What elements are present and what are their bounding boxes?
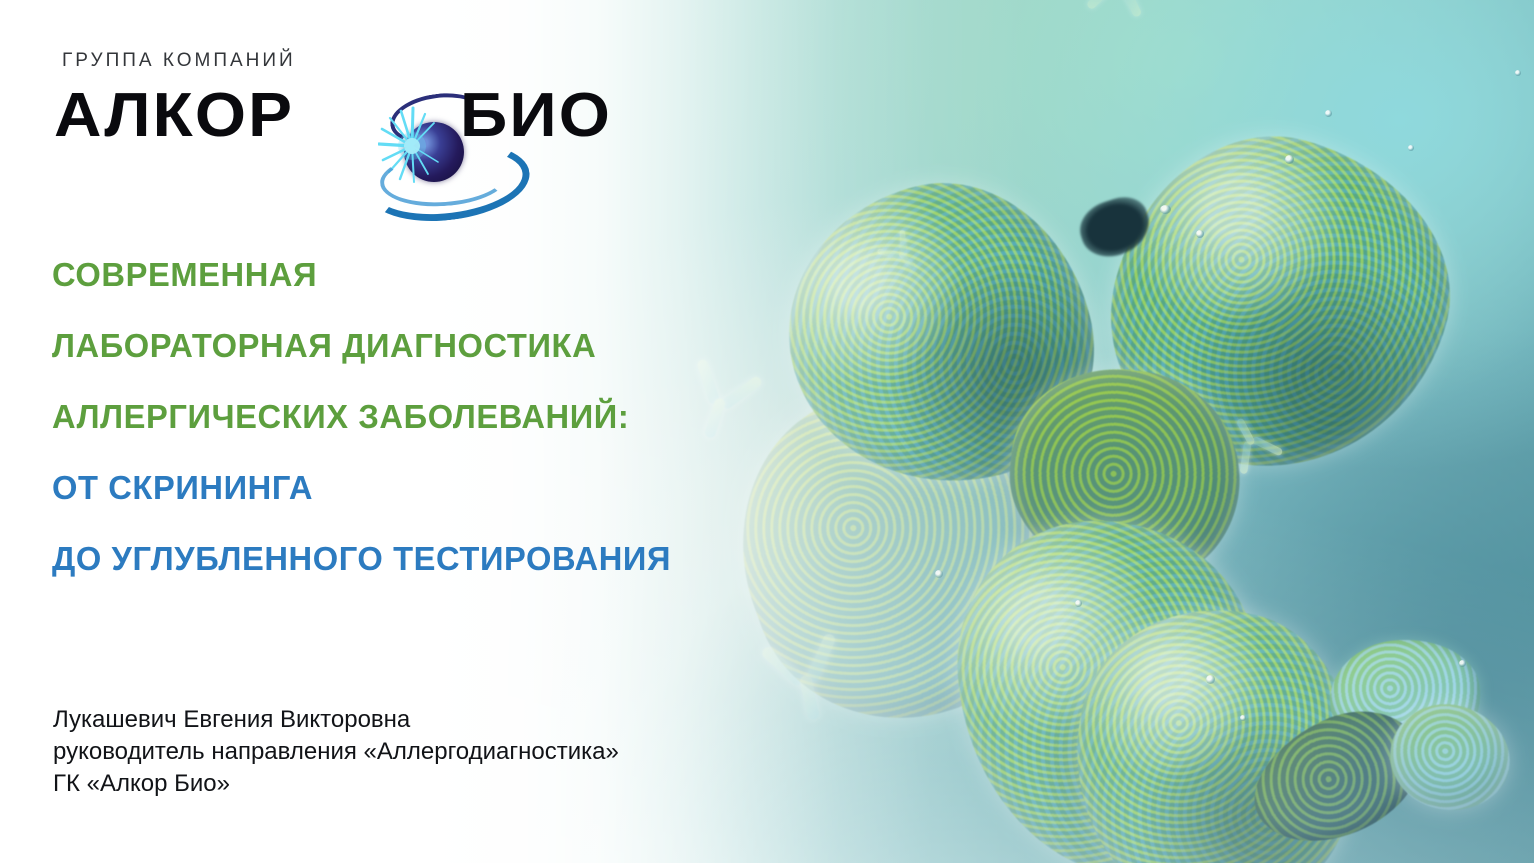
logo-wordmark-alkor: АЛКОР [54, 80, 294, 151]
author-block: Лукашевич Евгения Викторовна руководител… [53, 704, 619, 800]
antibody-dark-notch [1073, 191, 1157, 265]
antibody-fc-stem [948, 510, 1272, 863]
title-line-4: ОТ СКРИНИНГА [52, 471, 834, 504]
particle-dot [1196, 230, 1204, 238]
particle-dot [1515, 70, 1521, 76]
antibody-hinge-region [1000, 359, 1251, 592]
author-position: руководитель направления «Аллергодиагнос… [53, 736, 619, 768]
logo-tagline: ГРУППА КОМПАНИЙ [62, 50, 296, 72]
secondary-antibody-head [1330, 640, 1480, 755]
particle-dot [1075, 600, 1082, 607]
particle-dot [1285, 155, 1294, 164]
particle-dot [1325, 110, 1332, 117]
title-line-2: ЛАБОРАТОРНАЯ ДИАГНОСТИКА [52, 329, 834, 362]
particle-dot [935, 570, 943, 578]
particle-dot [1408, 145, 1414, 151]
particle-dot [1459, 660, 1466, 667]
particle-dot [1160, 205, 1171, 214]
secondary-antibody-arm-right [1380, 694, 1519, 822]
title-line-5: ДО УГЛУБЛЕННОГО ТЕСТИРОВАНИЯ [52, 542, 834, 575]
author-organization: ГК «Алкор Био» [53, 768, 619, 800]
antibody-fab-arm-right [1076, 101, 1484, 509]
slide-title: СОВРЕМЕННАЯ ЛАБОРАТОРНАЯ ДИАГНОСТИКА АЛЛ… [52, 258, 842, 575]
company-logo: ГРУППА КОМПАНИЙ АЛКОР [52, 44, 612, 169]
logo-wordmark-bio: БИО [460, 80, 612, 151]
antibody-fc-stem-lower [1051, 588, 1379, 863]
presentation-slide: ГРУППА КОМПАНИЙ АЛКОР [0, 0, 1534, 863]
particle-dot [1240, 715, 1246, 721]
author-name: Лукашевич Евгения Викторовна [53, 704, 619, 736]
title-line-3: АЛЛЕРГИЧЕСКИХ ЗАБОЛЕВАНИЙ: [52, 400, 834, 433]
particle-dot [1206, 675, 1215, 684]
secondary-antibody-arm-left [1234, 687, 1442, 863]
title-line-1: СОВРЕМЕННАЯ [52, 258, 834, 291]
